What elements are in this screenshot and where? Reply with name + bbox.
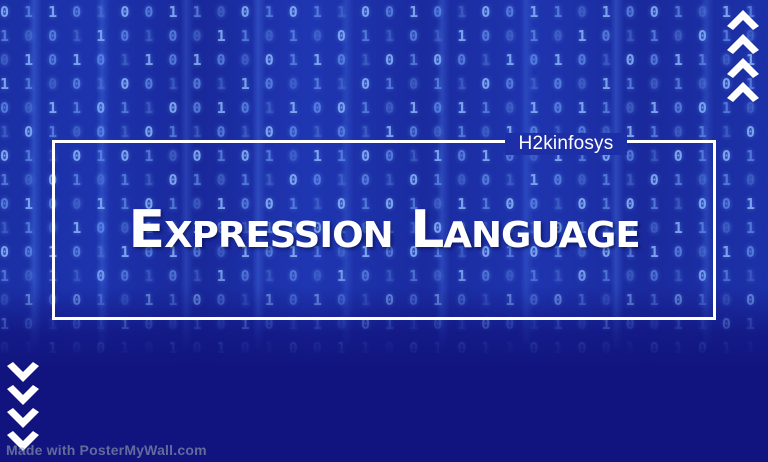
chevron-down-icon <box>6 362 40 384</box>
chevron-up-icon <box>726 32 760 54</box>
title-wrap: Expression Language <box>55 143 713 317</box>
chevron-up-icon <box>726 80 760 102</box>
chevron-down-group <box>6 362 40 454</box>
chevron-down-icon <box>6 408 40 430</box>
postermywall-watermark: Made with PosterMyWall.com <box>6 442 207 458</box>
page-title: Expression Language <box>128 200 639 260</box>
chevron-up-group <box>726 8 760 104</box>
headline-frame: H2kinfosys Expression Language <box>52 140 716 320</box>
poster-canvas: 0 1 1 0 1 0 0 1 1 0 0 1 0 1 1 0 0 1 0 1 … <box>0 0 768 462</box>
chevron-down-icon <box>6 385 40 407</box>
chevron-up-icon <box>726 56 760 78</box>
chevron-up-icon <box>726 8 760 30</box>
